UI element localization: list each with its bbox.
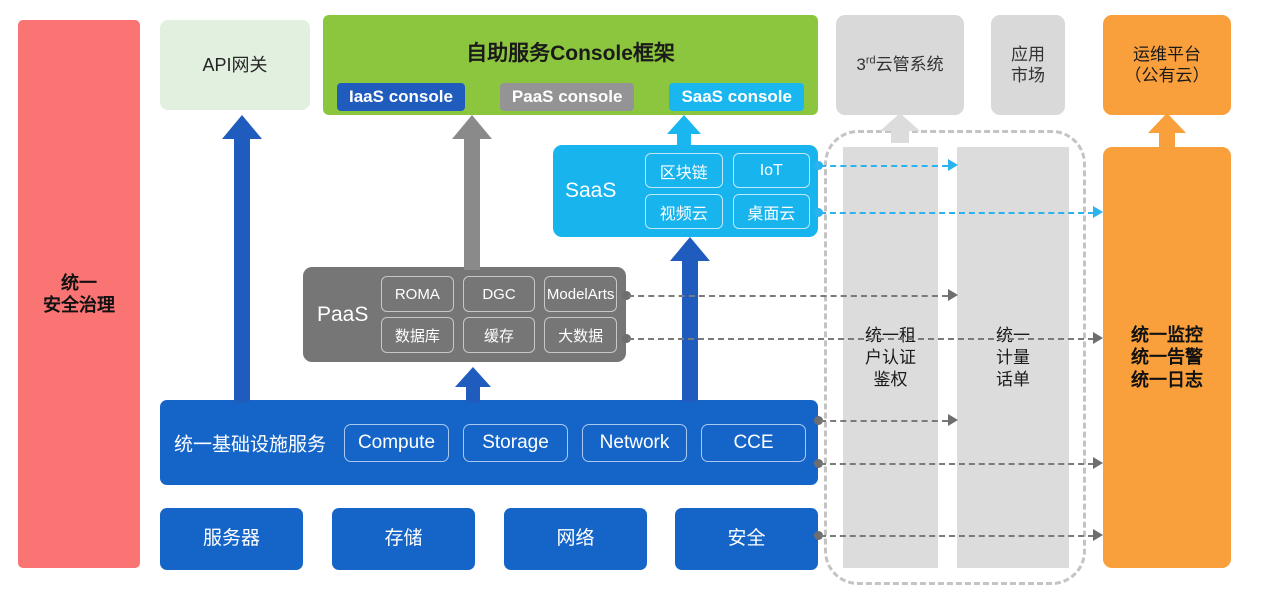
tenant-auth-text: 统一租 户认证 鉴权: [843, 324, 938, 390]
unified-infrastructure-bar: 统一基础设施服务 Compute Storage Network CCE: [160, 400, 818, 485]
third-party-label: 3rd云管系统: [856, 54, 943, 75]
paas-item-bigdata[interactable]: 大数据: [544, 317, 617, 353]
architecture-diagram: 统一 安全治理 API网关 自助服务Console框架 IaaS console…: [0, 0, 1265, 605]
third-party-cloud-mgmt-card: 3rd云管系统: [836, 15, 964, 115]
infra-item-network[interactable]: Network: [582, 424, 687, 462]
metering-text: 统一 计量 话单: [957, 324, 1069, 390]
connector-saas-to-ops: [820, 212, 1094, 214]
paas-label: PaaS: [317, 303, 368, 327]
arrow-ops-panel-to-ops-card: [1148, 113, 1186, 149]
infra-item-cce[interactable]: CCE: [701, 424, 806, 462]
saas-block: SaaS 区块链 IoT 视频云 桌面云: [553, 145, 818, 237]
saas-item-blockchain[interactable]: 区块链: [645, 153, 723, 188]
connector-saas-to-tenant-auth: [820, 165, 948, 167]
connector-arrowhead-saas-auth: [948, 159, 958, 171]
console-frame-title: 自助服务Console框架: [323, 37, 818, 67]
connector-foundation-to-ops: [820, 535, 1094, 537]
foundation-box-security[interactable]: 安全: [675, 508, 818, 570]
connector-arrowhead-foundation-ops: [1093, 529, 1103, 541]
infra-item-compute[interactable]: Compute: [344, 424, 449, 462]
app-market-line-1: 应用: [1011, 44, 1045, 65]
paas-item-roma[interactable]: ROMA: [381, 276, 454, 312]
saas-item-desktop-cloud[interactable]: 桌面云: [733, 194, 811, 229]
unified-security-governance-panel: 统一 安全治理: [18, 20, 140, 568]
saas-item-video-cloud[interactable]: 视频云: [645, 194, 723, 229]
connector-arrowhead-paas-ops: [1093, 332, 1103, 344]
infrastructure-label: 统一基础设施服务: [174, 429, 326, 456]
tenant-auth-line-3: 鉴权: [843, 369, 938, 391]
paas-service-grid: ROMA DGC ModelArts 数据库 缓存 大数据: [381, 276, 617, 353]
connector-arrowhead-infra-auth: [948, 414, 958, 426]
saas-item-iot[interactable]: IoT: [733, 153, 811, 188]
self-service-console-frame: 自助服务Console框架 IaaS console PaaS console …: [323, 15, 818, 115]
paas-item-modelarts[interactable]: ModelArts: [544, 276, 617, 312]
ops-platform-card: 运维平台 （公有云）: [1103, 15, 1231, 115]
metering-line-2: 计量: [957, 346, 1069, 368]
arrow-saas-to-console: [667, 115, 701, 148]
ops-panel-line-1: 统一监控: [1131, 324, 1203, 347]
unified-tenant-auth-column: 统一租 户认证 鉴权: [843, 147, 938, 568]
paas-item-dgc[interactable]: DGC: [463, 276, 536, 312]
saas-label: SaaS: [565, 179, 616, 203]
arrow-infra-to-paas: [455, 367, 491, 403]
security-line-2: 安全治理: [43, 294, 115, 317]
chip-paas-console[interactable]: PaaS console: [500, 83, 635, 111]
ops-card-line-2: （公有云）: [1125, 65, 1210, 86]
paas-item-database[interactable]: 数据库: [381, 317, 454, 353]
console-chip-row: IaaS console PaaS console SaaS console: [333, 83, 808, 111]
arrow-shared-to-third-party: [880, 113, 920, 143]
app-market-card: 应用 市场: [991, 15, 1065, 115]
paas-block: PaaS ROMA DGC ModelArts 数据库 缓存 大数据: [303, 267, 626, 362]
chip-saas-console[interactable]: SaaS console: [669, 83, 804, 111]
paas-item-cache[interactable]: 缓存: [463, 317, 536, 353]
connector-arrowhead-infra-ops: [1093, 457, 1103, 469]
foundation-box-server[interactable]: 服务器: [160, 508, 303, 570]
api-gateway-card: API网关: [160, 20, 310, 110]
foundation-box-network[interactable]: 网络: [504, 508, 647, 570]
metering-line-3: 话单: [957, 369, 1069, 391]
chip-iaas-console[interactable]: IaaS console: [337, 83, 465, 111]
foundation-box-storage[interactable]: 存储: [332, 508, 475, 570]
unified-metering-billing-column: 统一 计量 话单: [957, 147, 1069, 568]
connector-paas-to-ops: [628, 338, 1094, 340]
infra-item-storage[interactable]: Storage: [463, 424, 568, 462]
connector-paas-to-tenant-auth: [628, 295, 948, 297]
connector-infra-to-ops: [820, 463, 1094, 465]
arrow-infra-to-saas: [670, 237, 710, 402]
api-gateway-label: API网关: [202, 54, 267, 77]
app-market-line-2: 市场: [1011, 65, 1045, 86]
security-line-1: 统一: [43, 272, 115, 295]
connector-arrowhead-saas-ops: [1093, 206, 1103, 218]
ops-panel-line-2: 统一告警: [1131, 346, 1203, 369]
connector-infra-to-tenant-auth: [820, 420, 948, 422]
ops-panel-line-3: 统一日志: [1131, 369, 1203, 392]
infrastructure-chip-row: Compute Storage Network CCE: [344, 424, 806, 462]
arrow-infra-to-api-gateway: [222, 115, 262, 403]
tenant-auth-line-2: 户认证: [843, 346, 938, 368]
unified-monitoring-panel: 统一监控 统一告警 统一日志: [1103, 147, 1231, 568]
ops-card-line-1: 运维平台: [1125, 44, 1210, 65]
tenant-auth-line-1: 统一租: [843, 324, 938, 346]
third-party-sup: rd: [866, 55, 876, 67]
saas-service-grid: 区块链 IoT 视频云 桌面云: [645, 153, 810, 229]
arrow-paas-to-console: [452, 115, 492, 270]
metering-line-1: 统一: [957, 324, 1069, 346]
connector-arrowhead-paas-auth: [948, 289, 958, 301]
